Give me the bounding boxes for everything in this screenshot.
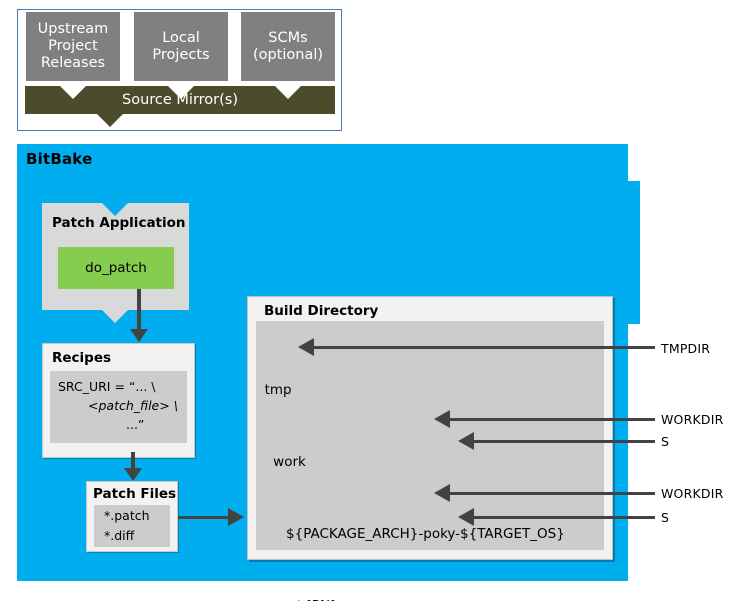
recipes-title: Recipes	[52, 350, 111, 366]
annotation-label-workdir-2: WORKDIR	[661, 486, 723, 501]
connector-workdir-2	[450, 492, 655, 495]
tree-node-work: work	[256, 450, 604, 474]
notch-icon-upstream	[60, 86, 86, 99]
annotation-label-s-2: S	[661, 510, 669, 525]
patch-application-bottom-notch-icon	[102, 310, 128, 323]
patch-files-list: *.patch *.diff	[94, 505, 170, 547]
arrowhead-workdir-2-icon	[434, 484, 450, 502]
source-box-label: Upstream Project Releases	[38, 21, 109, 72]
recipes-src-uri-block: SRC_URI = “... \ <patch_file> \ ...”	[50, 371, 187, 443]
source-box-label: SCMs (optional)	[253, 30, 323, 64]
recipes-src-uri-line-2: <patch_file> \	[50, 396, 187, 415]
source-box-local-projects: Local Projects	[134, 12, 228, 81]
recipes-src-uri-line-3: ...”	[50, 415, 187, 434]
connector-tmpdir	[314, 346, 655, 349]
tree-node-tmp: tmp	[256, 378, 604, 402]
source-box-label: Local Projects	[152, 30, 209, 64]
notch-icon-local	[168, 86, 194, 99]
arrowhead-patch-files-to-build-directory-icon	[228, 508, 244, 526]
bitbake-label: BitBake	[26, 150, 92, 168]
patch-files-item: *.diff	[104, 526, 170, 546]
annotation-label-tmpdir: TMPDIR	[661, 341, 710, 356]
source-box-upstream-project-releases: Upstream Project Releases	[26, 12, 120, 81]
source-box-scms-optional: SCMs (optional)	[241, 12, 335, 81]
connector-do-patch-to-recipes	[137, 289, 141, 331]
build-directory-tree: tmp work ${PACKAGE_ARCH}-poky-${TARGET_O…	[256, 330, 604, 601]
arrowhead-s-1-icon	[458, 432, 474, 450]
arrowhead-tmpdir-icon	[298, 338, 314, 356]
patch-files-item: *.patch	[104, 506, 170, 526]
bitbake-inlet-notch-icon	[97, 144, 123, 157]
patch-application-title: Patch Application	[52, 215, 186, 231]
connector-workdir-1	[450, 418, 655, 421]
diagram-canvas: Upstream Project Releases Local Projects…	[0, 0, 741, 601]
connector-s-1	[474, 440, 655, 443]
do-patch-label: do_patch	[85, 260, 147, 276]
mirror-output-arrow-icon	[97, 114, 123, 127]
arrowhead-recipes-to-patch-files-icon	[124, 468, 142, 481]
tree-node-pn-1: ${PN}	[256, 594, 604, 601]
connector-s-2	[474, 516, 655, 519]
arrowhead-workdir-1-icon	[434, 410, 450, 428]
connector-patch-files-to-build-directory	[178, 516, 230, 519]
notch-icon-scms	[275, 86, 301, 99]
tree-node-package-arch: ${PACKAGE_ARCH}-poky-${TARGET_OS}	[256, 522, 604, 546]
arrowhead-do-patch-to-recipes-icon	[130, 329, 148, 342]
do-patch-task-box[interactable]: do_patch	[58, 247, 174, 289]
annotation-label-workdir-1: WORKDIR	[661, 412, 723, 427]
recipes-src-uri-line-1: SRC_URI = “... \	[50, 377, 187, 396]
build-directory-title: Build Directory	[264, 303, 378, 319]
patch-files-title: Patch Files	[93, 486, 176, 502]
arrowhead-s-2-icon	[458, 508, 474, 526]
annotation-label-s-1: S	[661, 434, 669, 449]
